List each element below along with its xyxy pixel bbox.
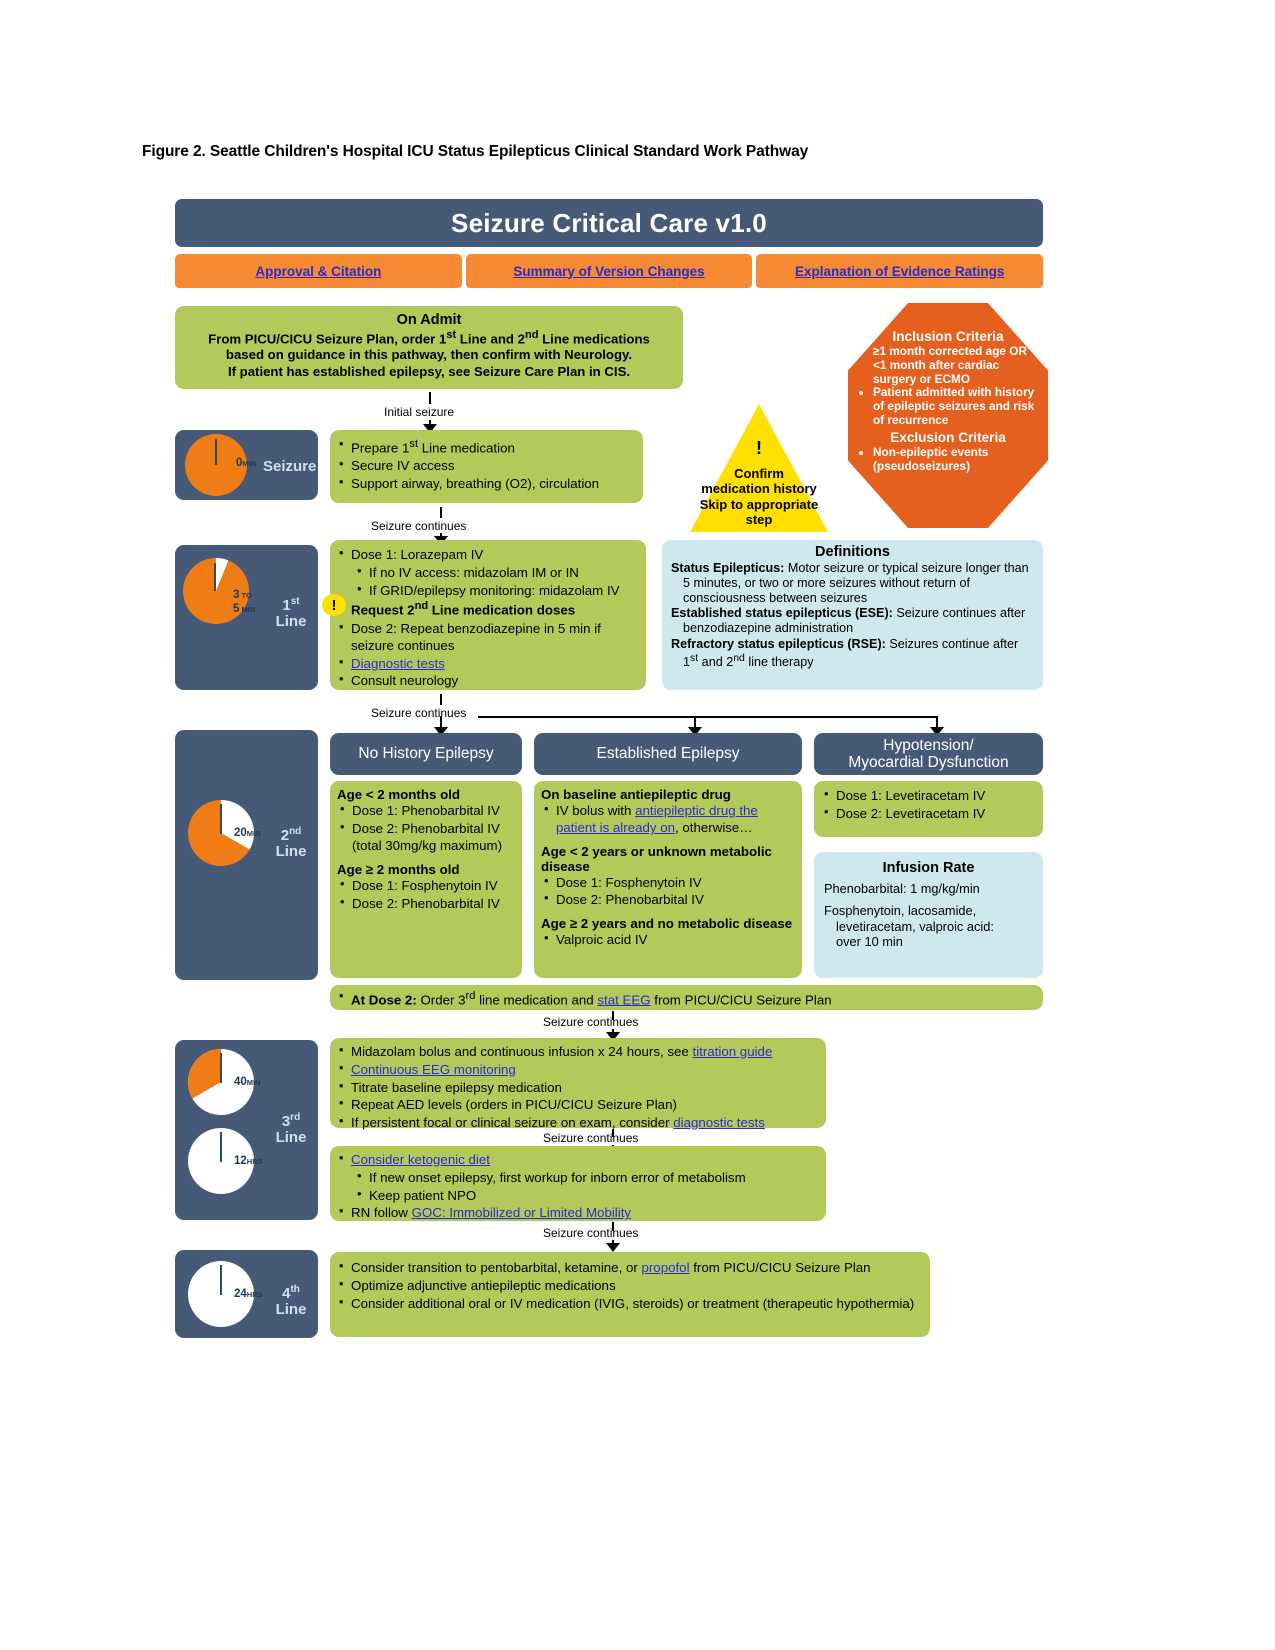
flow-label-seizure-continues: Seizure continues: [371, 706, 466, 720]
list-item-continuous-eeg[interactable]: Continuous EEG monitoring: [336, 1061, 820, 1078]
list-item: Secure IV access: [336, 457, 637, 474]
list-item: Support airway, breathing (O2), circulat…: [336, 475, 637, 492]
tab-summary-version-changes[interactable]: Summary of Version Changes: [466, 254, 753, 288]
clock-time-seizure: 0MIN: [236, 457, 256, 469]
confirm-line-3: Skip to appropriate: [672, 497, 846, 512]
list-item-diagnostic-tests[interactable]: Diagnostic tests: [336, 655, 640, 672]
block-list: Dose 1: Phenobarbital IV Dose 2: Phenoba…: [337, 802, 516, 854]
inclusion-exclusion-octagon: Inclusion Criteria ≥1 month corrected ag…: [848, 303, 1048, 528]
list-item: If new onset epilepsy, first workup for …: [336, 1169, 820, 1186]
confirm-line-1: Confirm: [672, 466, 846, 481]
clock-block-first-line: 3 TO 5 MIN 1stLine: [175, 545, 318, 690]
block-title: Age ≥ 2 years and no metabolic disease: [541, 916, 795, 931]
list-item: Repeat AED levels (orders in PICU/CICU S…: [336, 1096, 820, 1113]
exclusion-list: Non-epileptic events (pseudoseizures): [858, 446, 1038, 474]
list-item: Dose 1: Fosphenytoin IV: [337, 877, 516, 894]
column-header-label: Established Epilepsy: [596, 745, 739, 762]
definitions-heading: Definitions: [671, 544, 1034, 560]
block-title: Age < 2 years or unknown metabolic disea…: [541, 844, 795, 874]
pathway-page: Figure 2. Seattle Children's Hospital IC…: [0, 0, 1275, 1650]
list-item: Dose 1: Levetiracetam IV: [821, 787, 1036, 804]
seizure-step-list: Prepare 1st Line medication Secure IV ac…: [336, 437, 637, 492]
clock-block-third-line: 40MIN 12HRS 3rdLine: [175, 1040, 318, 1220]
definition-status-epilepticus: Status Epilepticus: Motor seizure or typ…: [671, 561, 1034, 606]
link-diagnostic-tests[interactable]: diagnostic tests: [673, 1115, 765, 1130]
confirm-line-2: medication history: [672, 481, 846, 496]
on-admit-line-3: If patient has established epilepsy, see…: [183, 364, 675, 380]
block-title: On baseline antiepileptic drug: [541, 787, 795, 802]
list-item-iv-bolus[interactable]: IV bolus with antiepileptic drug the pat…: [541, 802, 795, 837]
third-line-list: Midazolam bolus and continuous infusion …: [336, 1043, 820, 1131]
list-item: Dose 2: Repeat benzodiazepine in 5 min i…: [336, 620, 640, 655]
list-item-persistent-focal[interactable]: If persistent focal or clinical seizure …: [336, 1114, 820, 1131]
column-header-established-epilepsy: Established Epilepsy: [534, 733, 802, 775]
block-list: Dose 1: Levetiracetam IV Dose 2: Levetir…: [821, 787, 1036, 822]
definition-rse: Refractory status epilepticus (RSE): Sei…: [671, 637, 1034, 670]
infusion-rate-box: Infusion Rate Phenobarbital: 1 mg/kg/min…: [814, 852, 1043, 978]
clock-block-seizure: 0MIN Seizure: [175, 430, 318, 500]
ketogenic-list: Consider ketogenic diet If new onset epi…: [336, 1151, 820, 1222]
clock-time-5min: 5 MIN: [233, 603, 255, 615]
clock-hand: [215, 439, 217, 465]
list-item: Dose 2: Levetiracetam IV: [821, 805, 1036, 822]
list-item: Consult neurology: [336, 672, 640, 689]
first-line-list: Dose 1: Lorazepam IV If no IV access: mi…: [336, 546, 640, 690]
figure-caption: Figure 2. Seattle Children's Hospital IC…: [142, 143, 1122, 161]
list-item: Consider additional oral or IV medicatio…: [336, 1295, 924, 1312]
tab-explanation-evidence-ratings[interactable]: Explanation of Evidence Ratings: [756, 254, 1043, 288]
link-continuous-eeg-monitoring[interactable]: Continuous EEG monitoring: [351, 1062, 516, 1077]
on-admit-line-2: based on guidance in this pathway, then …: [183, 347, 675, 363]
block-list: Dose 1: Fosphenytoin IV Dose 2: Phenobar…: [337, 877, 516, 912]
inclusion-heading: Inclusion Criteria: [858, 329, 1038, 344]
list-item-at-dose2[interactable]: At Dose 2: Order 3rd line medication and…: [336, 989, 1037, 1009]
infusion-rate-line-2: Fosphenytoin, lacosamide,levetiracetam, …: [824, 903, 1033, 949]
on-admit-line-1: From PICU/CICU Seizure Plan, order 1st L…: [183, 329, 675, 347]
at-dose2-bar: At Dose 2: Order 3rd line medication and…: [330, 985, 1043, 1010]
link-goc-immobilized[interactable]: GOC: Immobilized or Limited Mobility: [412, 1205, 631, 1220]
tab-summary-version-changes-label[interactable]: Summary of Version Changes: [513, 264, 704, 279]
on-admit-heading: On Admit: [183, 312, 675, 328]
list-item: If GRID/epilepsy monitoring: midazolam I…: [336, 582, 640, 599]
clock-time-3to: 3 TO: [233, 589, 252, 601]
list-item: Dose 1: Fosphenytoin IV: [541, 874, 795, 891]
flow-label-seizure-continues: Seizure continues: [543, 1226, 638, 1240]
flow-label-initial-seizure: Initial seizure: [384, 405, 454, 419]
clock-time-40min: 40MIN: [234, 1076, 261, 1088]
confirm-line-4: step: [672, 512, 846, 527]
column-body-established-epilepsy: On baseline antiepileptic drug IV bolus …: [534, 781, 802, 978]
list-item: Dose 2: Phenobarbital IV: [337, 895, 516, 912]
definitions-box: Definitions Status Epilepticus: Motor se…: [662, 540, 1043, 690]
block-title: Age < 2 months old: [337, 787, 516, 802]
flow-connector: [440, 507, 442, 518]
fourth-line-list: Consider transition to pentobarbital, ke…: [336, 1259, 924, 1312]
third-line-box: Midazolam bolus and continuous infusion …: [330, 1038, 826, 1128]
flow-arrow-head: [606, 1243, 620, 1252]
at-dose2-list: At Dose 2: Order 3rd line medication and…: [336, 989, 1037, 1009]
flow-connector: [429, 392, 431, 404]
tab-explanation-evidence-ratings-label[interactable]: Explanation of Evidence Ratings: [795, 264, 1004, 279]
exclamation-badge-icon: !: [322, 594, 346, 616]
clock-time-12hrs: 12HRS: [234, 1155, 263, 1167]
exclamation-icon: !: [672, 438, 846, 459]
flow-connector: [440, 694, 442, 705]
clock-time-second-line: 20MIN: [234, 827, 261, 839]
list-item-ketogenic-diet[interactable]: Consider ketogenic diet: [336, 1151, 820, 1168]
clock-block-second-line: 20MIN 2ndLine: [175, 730, 318, 980]
list-item: Patient admitted with history of epilept…: [873, 386, 1038, 427]
list-item: Dose 2: Phenobarbital IV (total 30mg/kg …: [337, 820, 516, 855]
list-item: Dose 2: Phenobarbital IV: [541, 891, 795, 908]
flow-label-seizure-continues: Seizure continues: [371, 519, 466, 533]
list-item: Keep patient NPO: [336, 1187, 820, 1204]
link-stat-eeg[interactable]: stat EEG: [597, 992, 650, 1007]
block-list: IV bolus with antiepileptic drug the pat…: [541, 802, 795, 837]
clock-time-24hrs: 24HRS: [234, 1288, 263, 1300]
list-item-request-second-line: Request 2nd Line medication doses: [336, 599, 640, 619]
ketogenic-box: Consider ketogenic diet If new onset epi…: [330, 1146, 826, 1221]
flow-branch-line: [478, 716, 938, 718]
column-header-label-line1: Hypotension/: [883, 737, 973, 754]
list-item: Titrate baseline epilepsy medication: [336, 1079, 820, 1096]
list-item: Valproic acid IV: [541, 931, 795, 948]
clock-hand: [214, 563, 216, 591]
link-propofol[interactable]: propofol: [641, 1260, 689, 1275]
clock-hand: [220, 1053, 222, 1083]
inclusion-list: ≥1 month corrected age OR <1 month after…: [858, 345, 1038, 428]
seizure-step-box: Prepare 1st Line medication Secure IV ac…: [330, 430, 643, 503]
tab-approval-citation[interactable]: Approval & Citation: [175, 254, 462, 288]
list-item-transition[interactable]: Consider transition to pentobarbital, ke…: [336, 1259, 924, 1276]
pathway-banner: Seizure Critical Care v1.0: [175, 199, 1043, 247]
list-item: Prepare 1st Line medication: [336, 437, 637, 457]
column-header-label: No History Epilepsy: [358, 745, 493, 762]
column-header-hypotension: Hypotension/ Myocardial Dysfunction: [814, 733, 1043, 775]
tab-approval-citation-label[interactable]: Approval & Citation: [255, 264, 381, 279]
block-list: Dose 1: Fosphenytoin IV Dose 2: Phenobar…: [541, 874, 795, 909]
link-diagnostic-tests[interactable]: Diagnostic tests: [351, 656, 445, 671]
list-item: Non-epileptic events (pseudoseizures): [873, 446, 1038, 474]
column-header-no-history-epilepsy: No History Epilepsy: [330, 733, 522, 775]
on-admit-box: On Admit From PICU/CICU Seizure Plan, or…: [175, 306, 683, 389]
block-title: Age ≥ 2 months old: [337, 862, 516, 877]
confirm-triangle-text: Confirm medication history Skip to appro…: [672, 466, 846, 527]
first-line-box: Dose 1: Lorazepam IV If no IV access: mi…: [330, 540, 646, 690]
page-title: Seizure Critical Care v1.0: [451, 208, 767, 239]
list-item: Dose 1: Lorazepam IV: [336, 546, 640, 563]
list-item: Dose 1: Phenobarbital IV: [337, 802, 516, 819]
link-titration-guide[interactable]: titration guide: [693, 1044, 773, 1059]
stage-label-second-line: 2ndLine: [267, 827, 315, 860]
clock-hand: [220, 804, 222, 834]
list-item: Optimize adjunctive antiepileptic medica…: [336, 1277, 924, 1294]
definition-ese: Established status epilepticus (ESE): Se…: [671, 606, 1034, 636]
block-list: Valproic acid IV: [541, 931, 795, 948]
fourth-line-box: Consider transition to pentobarbital, ke…: [330, 1252, 930, 1337]
infusion-rate-line-1: Phenobarbital: 1 mg/kg/min: [824, 881, 1033, 896]
exclusion-heading: Exclusion Criteria: [858, 430, 1038, 445]
clock-hand: [220, 1132, 222, 1162]
flow-label-seizure-continues: Seizure continues: [543, 1015, 638, 1029]
flow-label-seizure-continues: Seizure continues: [543, 1131, 638, 1145]
list-item-rn-follow[interactable]: RN follow GOC: Immobilized or Limited Mo…: [336, 1204, 820, 1221]
column-body-no-history-epilepsy: Age < 2 months old Dose 1: Phenobarbital…: [330, 781, 522, 978]
stage-label-seizure: Seizure: [263, 459, 313, 475]
stage-label-third-line: 3rdLine: [267, 1113, 315, 1146]
clock-block-fourth-line: 24HRS 4thLine: [175, 1250, 318, 1338]
link-tab-row: Approval & Citation Summary of Version C…: [175, 254, 1043, 288]
infusion-rate-heading: Infusion Rate: [824, 860, 1033, 876]
clock-hand: [220, 1265, 222, 1295]
link-consider-ketogenic-diet[interactable]: Consider ketogenic diet: [351, 1152, 490, 1167]
column-body-hypotension: Dose 1: Levetiracetam IV Dose 2: Levetir…: [814, 781, 1043, 837]
stage-label-first-line: 1stLine: [267, 597, 315, 630]
list-item: If no IV access: midazolam IM or IN: [336, 564, 640, 581]
column-header-label-line2: Myocardial Dysfunction: [848, 754, 1008, 771]
stage-label-fourth-line: 4thLine: [267, 1285, 315, 1318]
list-item: ≥1 month corrected age OR <1 month after…: [873, 345, 1038, 386]
list-item-midazolam[interactable]: Midazolam bolus and continuous infusion …: [336, 1043, 820, 1060]
